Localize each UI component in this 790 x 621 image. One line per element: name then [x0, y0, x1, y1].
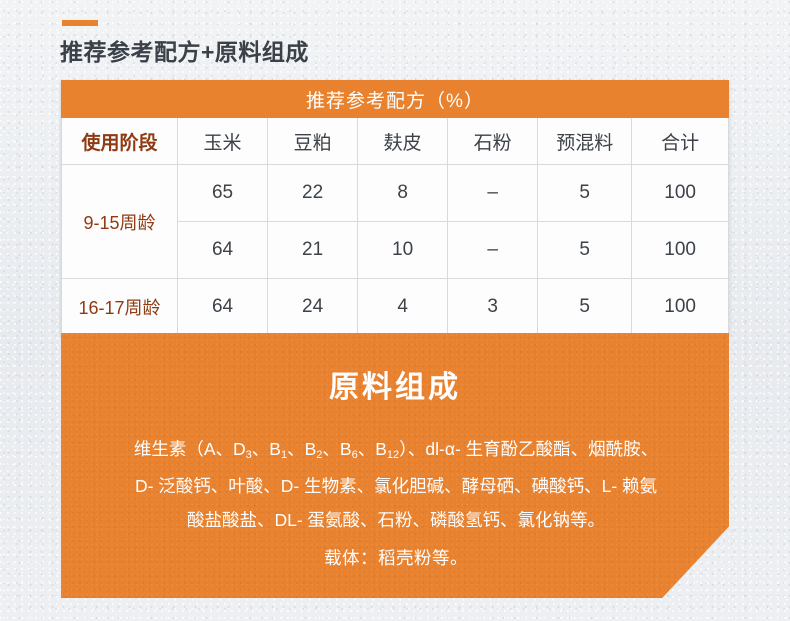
column-header-stage: 使用阶段 [62, 118, 178, 165]
cell-limestone: – [448, 222, 538, 279]
stage-cell-9-15: 9-15周龄 [62, 165, 178, 279]
cell-premix: 5 [538, 279, 632, 336]
vitamin-b12-subscript: 12 [387, 449, 399, 461]
cell-limestone: – [448, 165, 538, 222]
cell-bran: 8 [358, 165, 448, 222]
cell-soybean-meal: 21 [268, 222, 358, 279]
table-caption: 推荐参考配方（%） [62, 81, 729, 118]
recipe-table-container: 推荐参考配方（%） 使用阶段 玉米 豆粕 麸皮 石粉 预混料 合计 9-15周龄… [61, 80, 729, 336]
composition-line-1-mid-1: 、B [252, 439, 281, 459]
stage-cell-16-17: 16-17周龄 [62, 279, 178, 336]
cell-corn: 65 [178, 165, 268, 222]
cell-total: 100 [632, 279, 729, 336]
composition-line-1-mid-2: 、B [287, 439, 316, 459]
composition-body: 维生素（A、D3、B1、B2、B6、B12）、dl-α- 生育酚乙酸酯、烟酰胺、… [61, 432, 729, 575]
cell-bran: 4 [358, 279, 448, 336]
table-row: 16-17周龄 64 24 4 3 5 100 [62, 279, 729, 336]
composition-title: 原料组成 [61, 333, 729, 406]
cell-total: 100 [632, 222, 729, 279]
table-title-row: 推荐参考配方（%） [62, 81, 729, 118]
vitamin-b1-subscript: 1 [281, 449, 287, 461]
column-header-limestone: 石粉 [448, 118, 538, 165]
composition-line-1-mid-4: 、B [358, 439, 387, 459]
cell-corn: 64 [178, 222, 268, 279]
cell-premix: 5 [538, 222, 632, 279]
page-title: 推荐参考配方+原料组成 [60, 33, 309, 67]
column-header-premix: 预混料 [538, 118, 632, 165]
cell-soybean-meal: 24 [268, 279, 358, 336]
page-root: 推荐参考配方+原料组成 推荐参考配方（%） 使用阶段 玉米 豆粕 [0, 0, 790, 621]
composition-line-1-suffix: ）、dl-α- 生育酚乙酸酯、烟酰胺、 [399, 439, 658, 459]
column-header-total: 合计 [632, 118, 729, 165]
composition-line-1: 维生素（A、D3、B1、B2、B6、B12）、dl-α- 生育酚乙酸酯、烟酰胺、 [85, 432, 707, 469]
table-row: 9-15周龄 65 22 8 – 5 100 [62, 165, 729, 222]
cell-limestone: 3 [448, 279, 538, 336]
vitamin-b6-subscript: 6 [352, 449, 358, 461]
vitamin-d-subscript: 3 [246, 449, 252, 461]
cell-premix: 5 [538, 165, 632, 222]
composition-line-3: 酸盐酸盐、DL- 蛋氨酸、石粉、磷酸氢钙、氯化钠等。 [85, 503, 707, 537]
composition-line-1-prefix: 维生素（A、D [134, 439, 246, 459]
table-header-row: 使用阶段 玉米 豆粕 麸皮 石粉 预混料 合计 [62, 118, 729, 165]
composition-line-2: D- 泛酸钙、叶酸、D- 生物素、氯化胆碱、酵母硒、碘酸钙、L- 赖氨 [85, 469, 707, 503]
composition-line-1-mid-3: 、B [322, 439, 351, 459]
cell-corn: 64 [178, 279, 268, 336]
column-header-soybean-meal: 豆粕 [268, 118, 358, 165]
heading-accent-bar [62, 20, 98, 26]
column-header-corn: 玉米 [178, 118, 268, 165]
cell-soybean-meal: 22 [268, 165, 358, 222]
composition-panel: 原料组成 维生素（A、D3、B1、B2、B6、B12）、dl-α- 生育酚乙酸酯… [61, 333, 729, 598]
recipe-table: 推荐参考配方（%） 使用阶段 玉米 豆粕 麸皮 石粉 预混料 合计 9-15周龄… [61, 80, 729, 336]
cell-total: 100 [632, 165, 729, 222]
vitamin-b2-subscript: 2 [316, 449, 322, 461]
cell-bran: 10 [358, 222, 448, 279]
column-header-bran: 麸皮 [358, 118, 448, 165]
composition-line-carrier: 载体：稻壳粉等。 [85, 541, 707, 575]
